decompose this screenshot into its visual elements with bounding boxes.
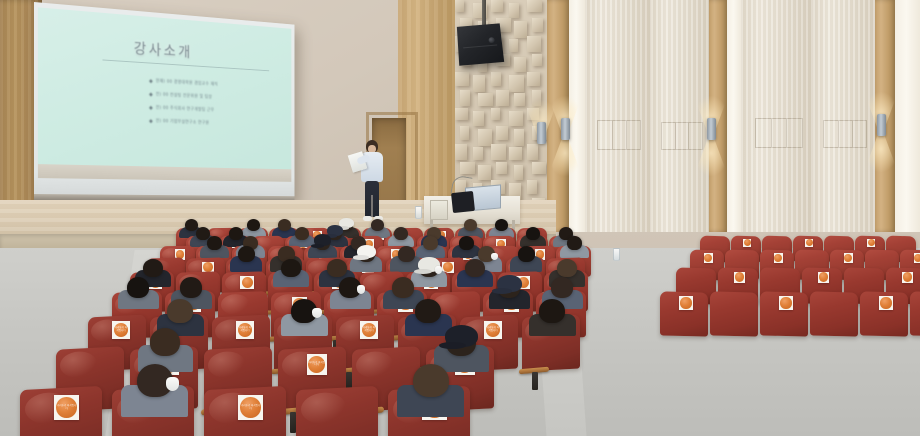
slide-bullet-text: 전) 00 주식회사 연구개발팀 근무	[156, 105, 215, 113]
audience-member-head	[295, 227, 309, 240]
distancing-marker-sticker: 거리두기 좌석입니다	[238, 395, 263, 420]
water-bottle	[415, 206, 422, 219]
sticker-circle-icon: 거리두기 좌석입니다	[114, 323, 129, 338]
slide-bullet-list: 현재) 00 경영대학원 겸임교수 재직 전) 00 컨설팅 전문위원 및 팀장…	[150, 78, 274, 136]
panel-marking	[597, 120, 641, 150]
acoustic-block	[496, 126, 508, 140]
audience-member-head	[281, 259, 300, 277]
sticker-circle-icon	[242, 277, 253, 288]
bullet-square-icon	[149, 119, 153, 123]
distancing-marker-sticker: 거리두기 좌석입니다	[54, 395, 79, 420]
slide-bullet-item: 현재) 00 경영대학원 겸임교수 재직	[150, 78, 274, 91]
wall-sconce-4	[537, 122, 546, 144]
audience-member-head	[238, 246, 255, 262]
sticker-circle-icon	[744, 239, 751, 246]
audience-member-head	[127, 277, 149, 298]
sticker-label: 거리두기 좌석입니다	[362, 327, 377, 333]
distancing-marker-sticker	[743, 239, 751, 247]
sticker-circle-icon	[868, 239, 875, 246]
acoustic-block	[455, 108, 468, 120]
acoustic-block	[514, 165, 523, 180]
audience-member-cap	[327, 225, 343, 236]
sticker-circle-icon: 거리두기 좌석입니다	[56, 397, 77, 418]
wall-light-slot-2	[727, 0, 741, 232]
acoustic-block	[460, 90, 470, 106]
audience-member-head	[567, 236, 582, 250]
acoustic-block	[514, 129, 524, 146]
seat-back	[910, 291, 920, 336]
acoustic-block	[527, 180, 537, 194]
bullet-square-icon	[149, 79, 153, 83]
slide-title: 강사소개	[38, 30, 277, 67]
distancing-marker-sticker: 거리두기 좌석입니다	[236, 321, 253, 338]
audience-member-head	[207, 236, 222, 250]
distancing-marker-sticker	[902, 272, 913, 283]
acoustic-block	[527, 144, 538, 160]
sticker-label: 거리두기 좌석입니다	[240, 405, 261, 411]
acoustic-block	[509, 3, 519, 18]
slide-bullet-text: 전) 00 컨설팅 전문위원 및 팀장	[156, 91, 212, 100]
audience-member-head	[465, 259, 484, 277]
audience-member-cap	[497, 275, 522, 291]
distancing-marker-sticker: 거리두기 좌석입니다	[360, 321, 377, 338]
sticker-label: 거리두기 좌석입니다	[114, 327, 129, 333]
sticker-circle-icon	[680, 297, 691, 308]
wall-light-slot-3	[895, 0, 920, 232]
distancing-marker-sticker	[779, 296, 792, 309]
sticker-circle-icon: 거리두기 좌석입니다	[308, 356, 325, 373]
face-mask	[357, 285, 365, 294]
wall-pier-wood-2	[709, 0, 727, 232]
auditorium-seat	[910, 291, 920, 336]
panel-marking	[823, 120, 867, 148]
sticker-label: 거리두기 좌석입니다	[308, 362, 325, 368]
distancing-marker-sticker	[805, 239, 813, 247]
audience-member-cap	[314, 234, 331, 246]
sticker-circle-icon	[903, 272, 912, 281]
sticker-circle-icon	[704, 254, 712, 262]
acoustic-block	[532, 162, 546, 174]
face-mask	[435, 266, 442, 274]
acoustic-block	[473, 75, 485, 92]
acoustic-block	[527, 0, 542, 12]
panel-marking	[661, 122, 703, 150]
audience-member-head	[150, 328, 180, 356]
panel-marking	[755, 118, 803, 148]
distancing-marker-sticker	[879, 296, 892, 309]
acoustic-block	[491, 108, 500, 120]
sticker-circle-icon	[774, 254, 782, 262]
acoustic-block	[455, 144, 467, 160]
acoustic-block	[478, 129, 492, 146]
distancing-marker-sticker	[734, 272, 745, 283]
acoustic-block	[478, 93, 493, 106]
distancing-marker-sticker	[704, 253, 714, 263]
presenter-shoe-left	[363, 216, 372, 221]
av-equipment-box	[430, 200, 448, 220]
sticker-circle-icon: 거리두기 좌석입니다	[486, 323, 501, 338]
audience-member-head	[180, 277, 202, 298]
distancing-marker-sticker	[867, 239, 875, 247]
distancing-marker-sticker	[679, 296, 692, 309]
sticker-circle-icon	[819, 272, 828, 281]
acoustic-block	[509, 111, 523, 126]
audience-member-head	[413, 364, 449, 398]
bullet-square-icon	[149, 92, 153, 96]
audience-member-head	[526, 227, 540, 240]
projection-screen: 강사소개 현재) 00 경영대학원 겸임교수 재직 전) 00 컨설팅 전문위원…	[34, 2, 294, 202]
acoustic-block	[509, 147, 522, 160]
wall-fabric-panel-4	[813, 0, 875, 232]
auditorium-seat	[710, 291, 758, 336]
audience-member-head	[392, 277, 414, 298]
slide-bullet-text: 현재) 00 경영대학원 겸임교수 재직	[156, 78, 218, 87]
distancing-marker-sticker	[844, 253, 854, 263]
acoustic-block	[473, 111, 484, 126]
wall-fabric-panel-2	[651, 0, 709, 232]
acoustic-block	[509, 75, 524, 92]
acoustic-block	[455, 0, 464, 12]
sticker-circle-icon	[914, 254, 920, 262]
acoustic-block	[491, 72, 501, 86]
sticker-circle-icon	[844, 254, 852, 262]
wall-light-slot-1	[569, 0, 585, 232]
distancing-marker-sticker: 거리두기 좌석입니다	[484, 321, 501, 338]
audience-member-head	[415, 299, 441, 323]
projected-slide: 강사소개 현재) 00 경영대학원 겸임교수 재직 전) 00 컨설팅 전문위원…	[38, 7, 291, 182]
seat-back	[810, 291, 858, 336]
acoustic-block	[527, 36, 541, 52]
face-mask	[312, 308, 322, 318]
sticker-label: 거리두기 좌석입니다	[238, 327, 253, 333]
acoustic-block	[491, 144, 506, 160]
sticker-label: 거리두기 좌석입니다	[486, 327, 501, 333]
presenter	[358, 140, 388, 224]
slide-bullet-item: 전) 00 컨설팅 전문위원 및 팀장	[150, 91, 274, 103]
wall-pier-wood-1	[547, 0, 569, 232]
sticker-circle-icon	[735, 272, 744, 281]
acoustic-block	[527, 108, 539, 120]
acoustic-block	[532, 90, 541, 106]
distancing-marker-sticker	[774, 253, 784, 263]
distancing-marker-sticker	[240, 276, 253, 289]
sticker-circle-icon: 거리두기 좌석입니다	[362, 323, 377, 338]
sticker-circle-icon: 거리두기 좌석입니다	[238, 323, 253, 338]
audience-member-head	[423, 236, 438, 250]
audience-member-cap	[445, 325, 479, 347]
audience-member-head	[327, 259, 346, 277]
acoustic-block	[514, 57, 526, 72]
camera-bag	[451, 191, 475, 213]
audience-member-head	[557, 259, 576, 277]
audience-member-head	[551, 277, 573, 298]
acoustic-block	[527, 72, 540, 86]
wall-fabric-panel-1	[585, 0, 651, 232]
speaker-driver-icon	[488, 37, 495, 43]
audience-member-cap	[357, 245, 376, 258]
audience-member-head	[196, 227, 210, 240]
seat-back	[710, 291, 758, 336]
acoustic-block	[509, 39, 518, 52]
audience-member-head	[398, 246, 415, 262]
seat-highlight	[221, 294, 249, 314]
acoustic-block	[478, 165, 491, 180]
seat-pedestal	[532, 372, 537, 390]
audience-member-head	[394, 227, 408, 240]
sticker-label: 거리두기 좌석입니다	[56, 405, 77, 411]
slide-bullet-item: 전) 00 주식회사 연구개발팀 근무	[150, 104, 274, 115]
distancing-marker-sticker: 거리두기 좌석입니다	[307, 354, 327, 374]
presenter-leg-gap	[371, 195, 373, 217]
acoustic-block	[496, 90, 509, 106]
wall-sconce-2	[707, 118, 716, 140]
acoustic-block	[455, 72, 469, 86]
sticker-circle-icon	[806, 239, 813, 246]
acoustic-block	[532, 54, 542, 66]
acoustic-block	[514, 21, 527, 38]
audience-member-head	[229, 227, 243, 240]
acoustic-block	[491, 0, 503, 12]
sticker-circle-icon	[780, 297, 791, 308]
acoustic-block	[473, 147, 483, 160]
slide-bullet-item: 전) 00 기업부설연구소 연구원	[150, 118, 274, 129]
distancing-marker-sticker	[818, 272, 829, 283]
distancing-marker-sticker	[914, 253, 920, 263]
audience-member-head	[539, 299, 565, 323]
audience-member-head	[459, 236, 474, 250]
distancing-marker-sticker: 거리두기 좌석입니다	[112, 321, 129, 338]
audience-member-head	[518, 246, 535, 262]
wall-fabric-panel-3	[741, 0, 813, 232]
bullet-square-icon	[149, 105, 153, 109]
acoustic-block	[460, 126, 469, 140]
slide-bullet-text: 전) 00 기업부설연구소 연구원	[156, 118, 209, 126]
acoustic-block	[460, 162, 475, 174]
audience-member-head	[167, 299, 193, 323]
auditorium-seat	[810, 291, 858, 336]
wall-sconce-1	[561, 118, 570, 140]
acoustic-block	[496, 162, 507, 174]
auditorium-photo: 강사소개 현재) 00 경영대학원 겸임교수 재직 전) 00 컨설팅 전문위원…	[0, 0, 920, 436]
acoustic-block	[532, 18, 543, 32]
face-mask	[491, 253, 498, 260]
wall-sconce-3	[877, 114, 886, 136]
acoustic-block	[514, 93, 525, 106]
auditorium-seat	[296, 386, 378, 436]
sticker-circle-icon: 거리두기 좌석입니다	[240, 397, 261, 418]
audience-member-head	[143, 259, 162, 277]
water-bottle	[613, 248, 620, 261]
ceiling-speaker	[457, 23, 504, 65]
sticker-circle-icon	[880, 297, 891, 308]
